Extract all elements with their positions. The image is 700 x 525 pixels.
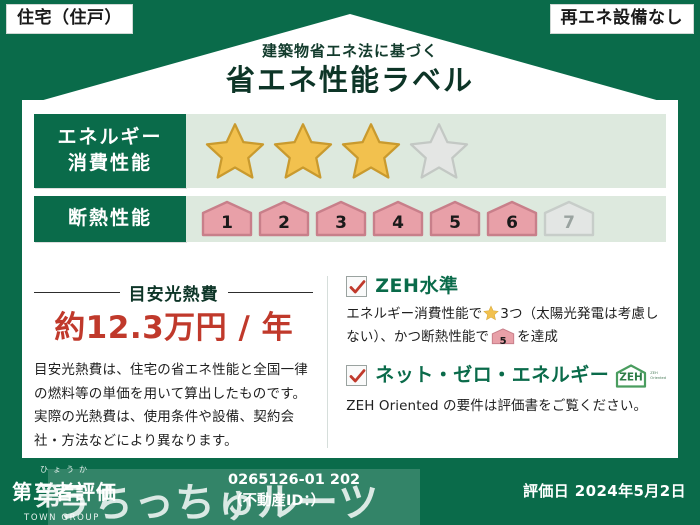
row-label-energy-line2: 消費性能 — [68, 151, 152, 177]
performance-rows: エネルギー 消費性能 断熱性能 1234567 — [34, 114, 666, 250]
utility-cost-note: 目安光熱費は、住宅の省エネ性能と全国一律の燃料等の単価を用いて算出したものです。… — [34, 359, 313, 454]
star-icon-inline — [483, 305, 499, 321]
star-icon-empty — [408, 121, 470, 181]
checkbox-icon[interactable] — [346, 365, 367, 386]
lower-content: 目安光熱費 約12.3万円 / 年 目安光熱費は、住宅の省エネ性能と全国一律の燃… — [34, 276, 666, 448]
heading-rule-right — [228, 292, 314, 293]
zeh-body-pre: エネルギー消費性能で — [346, 306, 482, 322]
net-zero-energy-title: ネット・ゼロ・エネルギー — [375, 366, 609, 385]
zeh-house-logo-icon: ZEH — [614, 363, 648, 389]
house-icon-filled: 3 — [314, 200, 368, 238]
checkbox-icon[interactable] — [346, 276, 367, 297]
zeh-logo: ZEH ZEH Oriented — [614, 363, 666, 389]
badge-dwelling-type: 住宅（住戸） — [6, 4, 133, 34]
star-icon-filled — [272, 121, 334, 181]
inline-house-level: 5 — [491, 333, 515, 350]
zeh-logo-sub1: ZEH — [650, 371, 657, 375]
zeh-logo-subtext: ZEH Oriented — [650, 371, 666, 380]
row-label-energy-consumption: エネルギー 消費性能 — [34, 114, 186, 188]
utility-cost-amount: 約12.3万円 / 年 — [34, 313, 313, 344]
star-icon-filled — [340, 121, 402, 181]
row-label-insulation: 断熱性能 — [34, 196, 186, 242]
footer-id-block: 0265126-01 202 （不動産ID：） — [228, 470, 360, 512]
badge-renewable-equipment: 再エネ設備なし — [550, 4, 695, 34]
house-icon-filled: 2 — [257, 200, 311, 238]
zeh-standard-item: ZEH水準 エネルギー消費性能で3つ（太陽光発電は考慮しない）、かつ断熱性能で … — [346, 276, 666, 349]
heading-rule-left — [34, 292, 120, 293]
net-zero-energy-body: ZEH Oriented の要件は評価書をご覧ください。 — [346, 395, 666, 418]
utility-cost-heading-text: 目安光熱費 — [120, 280, 228, 305]
star-rating — [186, 114, 666, 188]
house-icon-filled: 6 — [485, 200, 539, 238]
utility-cost-heading: 目安光熱費 — [34, 280, 313, 305]
house-icon-inline: 5 — [491, 328, 515, 345]
row-label-insulation-text: 断熱性能 — [68, 206, 152, 232]
zeh-logo-sub2: Oriented — [650, 376, 666, 380]
footer-evaluation-date: 評価日 2024年5月2日 — [523, 480, 686, 501]
footer-third-party-label: 第三者評価 — [12, 476, 117, 505]
row-insulation-performance: 断熱性能 1234567 — [34, 196, 666, 242]
watermark-logo-english: TOWN GROUP — [2, 513, 122, 523]
house-icon-filled: 1 — [200, 200, 254, 238]
row-energy-consumption: エネルギー 消費性能 — [34, 114, 666, 188]
zeh-standard-body: エネルギー消費性能で3つ（太陽光発電は考慮しない）、かつ断熱性能で 5を達成 — [346, 303, 666, 349]
energy-label-page: 住宅（住戸） 再エネ設備なし 建築物省エネ法に基づく 省エネ性能ラベル エネルギ… — [0, 0, 700, 525]
footer-id-line1: 0265126-01 202 — [228, 470, 360, 491]
net-zero-energy-header: ネット・ゼロ・エネルギー ZEH ZEH Oriented — [346, 363, 666, 389]
row-label-energy-line1: エネルギー — [57, 125, 162, 151]
svg-text:ZEH: ZEH — [620, 371, 644, 383]
footer-bar: ひょうか 第三者評価 0265126-01 202 （不動産ID：） 評価日 2… — [0, 458, 700, 525]
footer-id-line2: （不動産ID：） — [228, 491, 360, 512]
utility-cost-column: 目安光熱費 約12.3万円 / 年 目安光熱費は、住宅の省エネ性能と全国一律の燃… — [34, 276, 328, 448]
net-zero-energy-item: ネット・ゼロ・エネルギー ZEH ZEH Oriented ZEH Orient… — [346, 363, 666, 418]
house-icon-empty: 7 — [542, 200, 596, 238]
zeh-body-post: を達成 — [517, 329, 558, 345]
house-icon-filled: 4 — [371, 200, 425, 238]
footer-ruby-text: ひょうか — [40, 464, 92, 475]
zeh-column: ZEH水準 エネルギー消費性能で3つ（太陽光発電は考慮しない）、かつ断熱性能で … — [328, 276, 666, 448]
zeh-standard-title: ZEH水準 — [375, 277, 458, 296]
insulation-level-scale: 1234567 — [186, 196, 666, 242]
zeh-standard-header: ZEH水準 — [346, 276, 666, 297]
house-icon-filled: 5 — [428, 200, 482, 238]
star-icon-filled — [204, 121, 266, 181]
